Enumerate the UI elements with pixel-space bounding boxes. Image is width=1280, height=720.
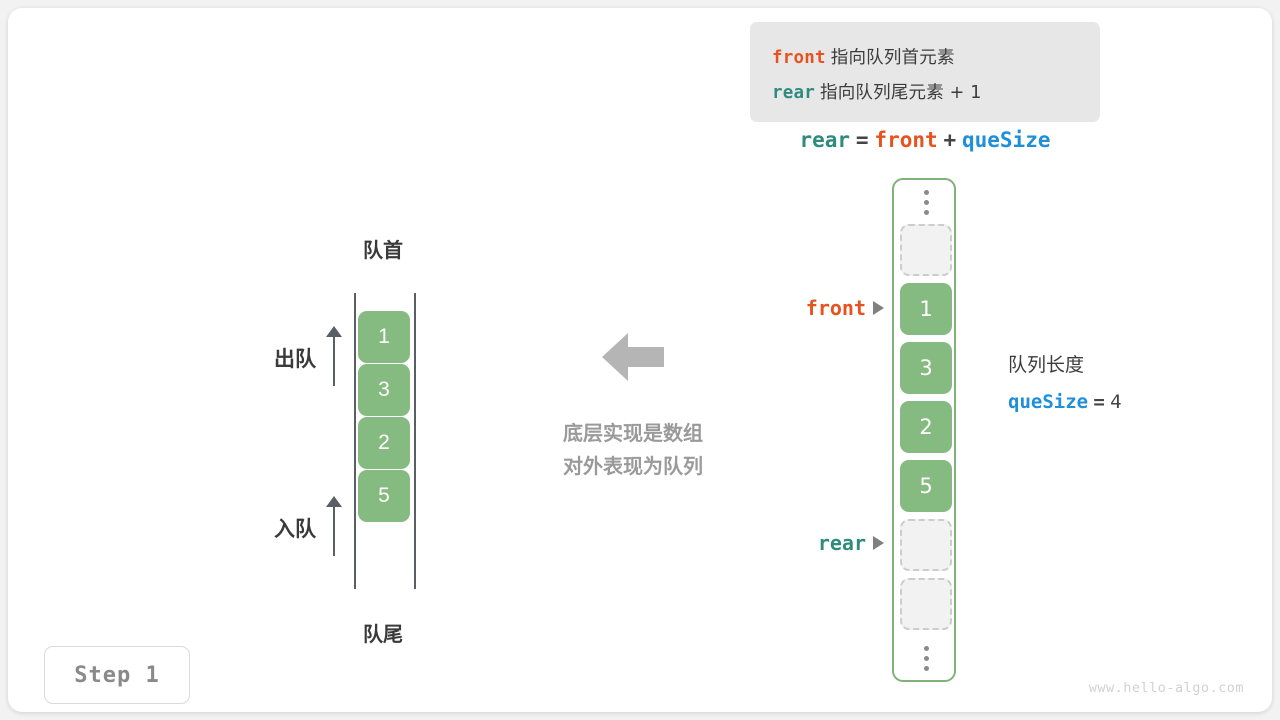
queue-cell-2: 2: [358, 417, 410, 469]
quesize-annotation: 队列长度 queSize = 4: [1008, 348, 1238, 421]
legend-front-text: 指向队列首元素: [831, 48, 955, 68]
formula-front: front: [874, 128, 937, 152]
formula-plus: +: [943, 128, 956, 152]
center-note-line-2: 对外表现为队列: [518, 451, 748, 484]
legend-line-rear: rear 指向队列尾元素 + 1: [772, 79, 982, 104]
quesize-caption: 队列长度: [1008, 348, 1238, 384]
array-cell-4: 5: [900, 460, 952, 512]
legend-rear-text: 指向队列尾元素 + 1: [820, 83, 982, 103]
diagram-card: front 指向队列首元素 rear 指向队列尾元素 + 1 rear = fr…: [8, 8, 1272, 712]
rear-formula: rear = front + queSize: [750, 128, 1100, 153]
formula-equals: =: [856, 128, 869, 152]
front-pointer: front: [708, 296, 884, 320]
arrow-right-icon: [873, 536, 884, 550]
queue-rail-left: [354, 293, 356, 589]
enqueue-label: 入队: [226, 513, 316, 543]
ellipsis-bottom-icon: [894, 638, 958, 678]
legend-line-front: front 指向队列首元素: [772, 44, 955, 69]
front-pointer-label: front: [806, 296, 866, 320]
dequeue-label: 出队: [226, 343, 316, 373]
watermark: www.hello-algo.com: [1028, 680, 1244, 696]
quesize-expression: queSize = 4: [1008, 384, 1238, 421]
queue-cell-0: 1: [358, 311, 410, 363]
array-cell-1: 1: [900, 283, 952, 335]
queue-tail-label: 队尾: [308, 618, 458, 647]
array-cell-2: 3: [900, 342, 952, 394]
step-badge: Step 1: [44, 646, 190, 704]
rear-pointer-label: rear: [818, 531, 866, 555]
diagram-canvas: front 指向队列首元素 rear 指向队列尾元素 + 1 rear = fr…: [0, 0, 1280, 720]
rear-pointer: rear: [708, 531, 884, 555]
queue-head-label: 队首: [308, 234, 458, 263]
queue-cell-3: 5: [358, 470, 410, 522]
dequeue-arrow-shaft: [333, 336, 335, 386]
ellipsis-top-icon: [894, 182, 958, 222]
arrow-right-icon: [873, 301, 884, 315]
quesize-name: queSize: [1008, 391, 1088, 413]
enqueue-arrow-shaft: [333, 506, 335, 556]
formula-quesize: queSize: [962, 128, 1051, 152]
array-cell-0: [900, 224, 952, 276]
quesize-value: 4: [1110, 391, 1121, 413]
left-arrow-icon: [600, 328, 666, 391]
queue-cell-1: 3: [358, 364, 410, 416]
quesize-equals: =: [1093, 391, 1104, 413]
pointer-legend-box: front 指向队列首元素 rear 指向队列尾元素 + 1: [750, 22, 1100, 122]
legend-rear-keyword: rear: [772, 83, 815, 103]
array-cell-5: [900, 519, 952, 571]
center-note-line-1: 底层实现是数组: [518, 418, 748, 451]
queue-rail-right: [414, 293, 416, 589]
legend-front-keyword: front: [772, 48, 826, 68]
center-note: 底层实现是数组 对外表现为队列: [518, 418, 748, 484]
array-cell-3: 2: [900, 401, 952, 453]
formula-lhs: rear: [800, 128, 851, 152]
array-container: 1 3 2 5: [892, 178, 956, 682]
array-cell-6: [900, 578, 952, 630]
